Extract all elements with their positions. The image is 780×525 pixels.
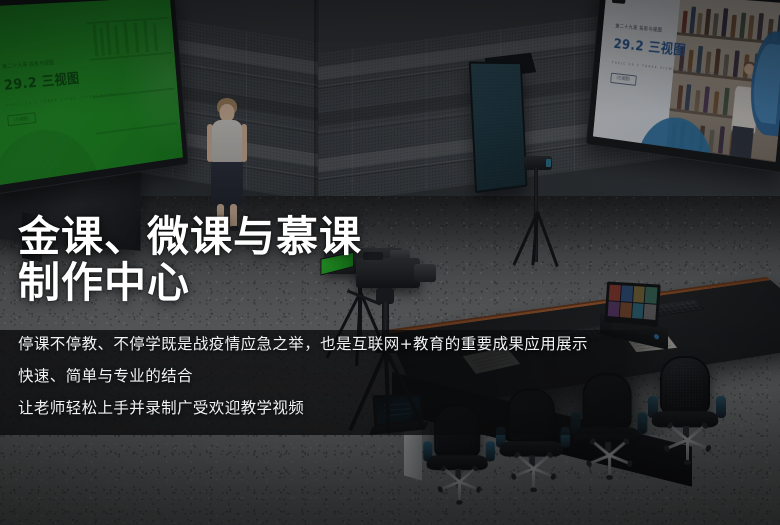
green-screen-display: 第二十九章 投影与视图 29.2 三视图 TOPIC 29.2 THREE VI… — [0, 0, 189, 195]
subtitle-line-3: 让老师轻松上手并录制广受欢迎教学视频 — [18, 400, 588, 418]
title-line-2: 制作中心 — [18, 260, 758, 306]
softbox-head — [524, 156, 552, 170]
chair-back — [583, 373, 632, 430]
slide-title: 29.2 三视图 — [613, 34, 721, 64]
chair-seat — [573, 427, 640, 443]
presenter-skirt — [730, 126, 754, 159]
wall-corner-seam — [314, 0, 319, 216]
chair-armrest — [716, 396, 726, 418]
chair-base — [581, 453, 638, 478]
result-screen-surface: 第二十九章 投影与视图 29.2 三视图 TOPIC 29.2 THREE VI… — [593, 0, 780, 162]
title-line-1: 金课、微课与慕课 — [18, 212, 362, 261]
slide-english: TOPIC 29.2 THREE VIEWS (THREE VIEWS) — [6, 91, 120, 107]
office-chair — [419, 404, 498, 505]
studio-hero-banner: 第二十九章 投影与视图 29.2 三视图 TOPIC 29.2 THREE VI… — [0, 0, 780, 525]
slide-tag: （三视图） — [610, 72, 637, 85]
softbox-panel — [469, 62, 528, 194]
office-chair — [644, 356, 730, 466]
chair-base — [432, 480, 485, 504]
subtitle-line-1: 停课不停教、不停学既是战疫情应急之举，也是互联网+教育的重要成果应用展示 — [18, 336, 588, 354]
result-display: 第二十九章 投影与视图 29.2 三视图 TOPIC 29.2 THREE VI… — [586, 0, 780, 173]
chair-seat — [651, 411, 720, 427]
chair-base — [505, 467, 560, 492]
slide-title: 29.2 三视图 — [3, 65, 118, 95]
presenter-top — [212, 120, 242, 164]
subtitle-line-2: 快速、简单与专业的结合 — [18, 368, 588, 386]
hero-title-block: 金课、微课与慕课 制作中心 — [18, 214, 758, 306]
page-title: 金课、微课与慕课 制作中心 — [18, 214, 758, 306]
chair-seat — [498, 441, 563, 456]
slide-tag: （三视图） — [7, 112, 36, 126]
result-slide-text: 第二十九章 投影与视图 29.2 三视图 TOPIC 29.2 THREE VI… — [610, 23, 722, 95]
chair-base — [658, 438, 716, 464]
chair-back — [660, 356, 710, 414]
presenter-skirt — [211, 162, 243, 206]
green-screen-surface: 第二十九章 投影与视图 29.2 三视图 TOPIC 29.2 THREE VI… — [0, 0, 183, 185]
hero-subtitle-block: 停课不停教、不停学既是战疫情应急之举，也是互联网+教育的重要成果应用展示 快速、… — [18, 336, 588, 417]
